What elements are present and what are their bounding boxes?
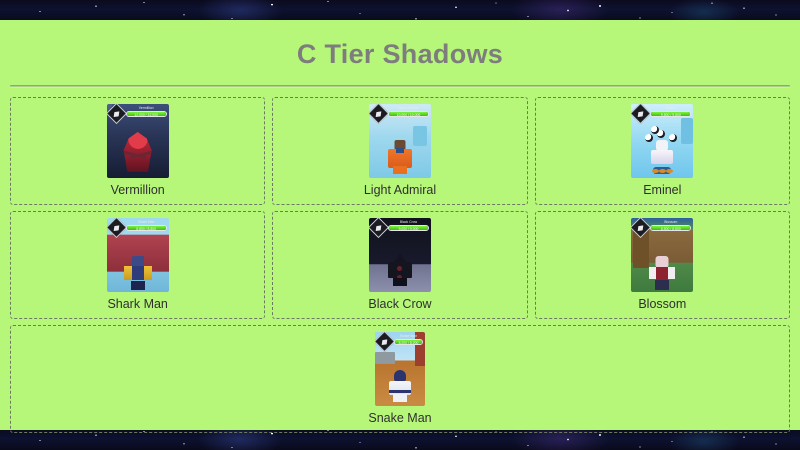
card-label: Vermillion: [111, 184, 165, 198]
character-body: [656, 267, 668, 280]
health-bar-wrap: Vermillion 12,000 / 12,000: [126, 111, 167, 117]
health-bar: 8,800 / 8,800: [126, 225, 167, 231]
shadow-card-light-admiral[interactable]: Light Admiral 10,000 / 10,000 Light Admi…: [272, 97, 527, 205]
thumbnail-hud: Light Admiral 10,000 / 10,000: [371, 106, 429, 122]
health-bar-value: 9,000 / 9,000: [389, 226, 428, 230]
thumbnail-hud: Blossom 8,500 / 8,500: [633, 220, 691, 236]
shadow-thumbnail-eminel[interactable]: Eminel 9,500 / 9,500: [631, 104, 693, 178]
shadow-thumbnail-snake-man[interactable]: Snake Man 8,200 / 8,200: [375, 332, 425, 406]
character-legs: [393, 394, 407, 402]
rank-diamond-icon: [107, 104, 127, 124]
wall-decor: [375, 352, 395, 364]
coin-decor: [666, 169, 673, 173]
character-scarf: [396, 148, 404, 153]
card-label: Black Crow: [368, 298, 431, 312]
health-bar: 8,500 / 8,500: [650, 225, 691, 231]
character-art: [649, 136, 675, 174]
slide-stage: C Tier Shadows Vermillion: [0, 0, 800, 450]
rank-diamond-icon: [631, 218, 651, 238]
character-art: [387, 254, 413, 286]
shadow-card-vermillion[interactable]: Vermillion 12,000 / 12,000 Vermillion: [10, 97, 265, 205]
health-bar-wrap: Eminel 9,500 / 9,500: [650, 111, 691, 117]
health-bar-wrap: Blossom 8,500 / 8,500: [650, 225, 691, 231]
health-bar-value: 8,200 / 8,200: [395, 340, 422, 344]
thumbnail-hud: Snake Man 8,200 / 8,200: [377, 334, 423, 350]
character-belt: [389, 390, 411, 393]
thumbnail-hud: Black Crow 9,000 / 9,000: [371, 220, 429, 236]
hud-name-label: Blossom: [650, 220, 691, 224]
character-legs: [655, 280, 669, 290]
shadow-thumbnail-blossom[interactable]: Blossom 8,500 / 8,500: [631, 218, 693, 292]
health-bar-wrap: Light Admiral 10,000 / 10,000: [388, 111, 429, 117]
rank-diamond-icon: [631, 104, 651, 124]
thumbnail-hud: Vermillion 12,000 / 12,000: [109, 106, 167, 122]
title-divider: [10, 85, 790, 88]
health-bar-wrap: Black Crow 9,000 / 9,000: [388, 225, 429, 231]
starfield-backdrop-top: [0, 0, 800, 21]
hud-name-label: Shark Man: [126, 220, 167, 224]
shadow-card-black-crow[interactable]: Black Crow 9,000 / 9,000 Black Crow: [272, 211, 527, 319]
health-bar: 12,000 / 12,000: [126, 111, 167, 117]
health-bar: 9,000 / 9,000: [388, 225, 429, 231]
shadow-card-snake-man[interactable]: Snake Man 8,200 / 8,200 Snake Man: [10, 325, 790, 433]
character-art: [388, 370, 412, 402]
hud-name-label: Snake Man: [394, 334, 423, 338]
health-bar: 8,200 / 8,200: [394, 339, 423, 345]
shadow-thumbnail-black-crow[interactable]: Black Crow 9,000 / 9,000: [369, 218, 431, 292]
shadow-thumbnail-light-admiral[interactable]: Light Admiral 10,000 / 10,000: [369, 104, 431, 178]
card-label: Snake Man: [368, 412, 431, 426]
emblem-icon: [397, 266, 402, 271]
character-art: [649, 256, 675, 290]
character-legs: [393, 278, 407, 286]
hud-name-label: Eminel: [650, 106, 691, 110]
health-bar-value: 10,000 / 10,000: [389, 112, 428, 116]
health-bar-value: 8,800 / 8,800: [127, 226, 166, 230]
card-label: Shark Man: [107, 298, 167, 312]
health-bar-value: 12,000 / 12,000: [127, 112, 166, 116]
shadow-thumbnail-vermillion[interactable]: Vermillion 12,000 / 12,000: [107, 104, 169, 178]
thumbnail-hud: Shark Man 8,800 / 8,800: [109, 220, 167, 236]
page-title: C Tier Shadows: [10, 20, 790, 68]
health-bar-wrap: Snake Man 8,200 / 8,200: [394, 339, 423, 345]
shadow-thumbnail-shark-man[interactable]: Shark Man 8,800 / 8,800: [107, 218, 169, 292]
character-arm-left: [649, 267, 656, 279]
rank-diamond-icon: [375, 332, 395, 352]
shadow-card-grid: Vermillion 12,000 / 12,000 Vermillion: [10, 97, 790, 433]
character-legs: [131, 281, 145, 290]
card-label: Blossom: [638, 298, 686, 312]
character-body: [651, 150, 673, 164]
character-art: [124, 256, 152, 290]
hud-name-label: Black Crow: [388, 220, 429, 224]
slide-body: C Tier Shadows Vermillion: [0, 20, 800, 430]
character-legs: [393, 166, 407, 174]
health-bar-wrap: Shark Man 8,800 / 8,800: [126, 225, 167, 231]
hud-name-label: Vermillion: [126, 106, 167, 110]
health-bar-value: 8,500 / 8,500: [651, 226, 690, 230]
shadow-card-eminel[interactable]: Eminel 9,500 / 9,500 Eminel: [535, 97, 790, 205]
coin-decor: [659, 169, 666, 173]
thumbnail-hud: Eminel 9,500 / 9,500: [633, 106, 691, 122]
shadow-card-shark-man[interactable]: Shark Man 8,800 / 8,800 Shark Man: [10, 211, 265, 319]
character-art: [122, 132, 154, 172]
character-arm-right: [668, 267, 675, 279]
character-arm-right: [144, 266, 152, 280]
rank-diamond-icon: [369, 218, 389, 238]
health-bar: 9,500 / 9,500: [650, 111, 691, 117]
shadow-card-blossom[interactable]: Blossom 8,500 / 8,500 Blossom: [535, 211, 790, 319]
health-bar-value: 9,500 / 9,500: [651, 112, 690, 116]
card-label: Eminel: [643, 184, 681, 198]
coin-decor: [652, 169, 659, 173]
card-label: Light Admiral: [364, 184, 436, 198]
rank-diamond-icon: [107, 218, 127, 238]
character-body: [132, 266, 144, 280]
health-bar: 10,000 / 10,000: [388, 111, 429, 117]
character-art: [388, 140, 412, 174]
ice-block-decor: [413, 126, 427, 146]
hud-name-label: Light Admiral: [388, 106, 429, 110]
rank-diamond-icon: [369, 104, 389, 124]
character-arm-left: [124, 266, 132, 280]
